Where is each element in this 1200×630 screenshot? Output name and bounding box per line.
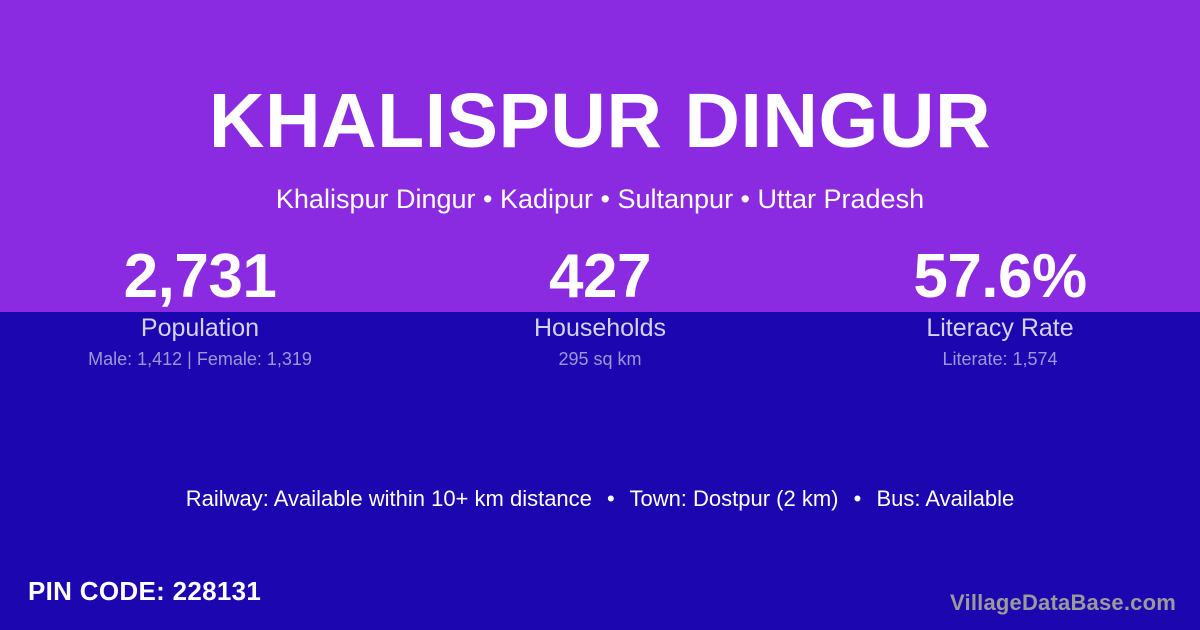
amenity-railway: Railway: Available within 10+ km distanc… bbox=[186, 486, 592, 511]
amenities-line: Railway: Available within 10+ km distanc… bbox=[0, 486, 1200, 512]
site-brand-label: VillageDataBase.com bbox=[950, 590, 1176, 616]
card-header: KHALISPUR DINGUR Khalispur Dingur • Kadi… bbox=[0, 0, 1200, 240]
stat-households-label: Households bbox=[400, 314, 800, 342]
stat-population-value: 2,731 bbox=[0, 246, 400, 308]
stats-row: 2,731 Population Male: 1,412 | Female: 1… bbox=[0, 246, 1200, 369]
village-info-card: KHALISPUR DINGUR Khalispur Dingur • Kadi… bbox=[0, 0, 1200, 630]
stat-households-detail: 295 sq km bbox=[400, 349, 800, 369]
pin-code-label: PIN CODE: 228131 bbox=[28, 576, 261, 606]
breadcrumb: Khalispur Dingur • Kadipur • Sultanpur •… bbox=[0, 183, 1200, 215]
amenity-bus: Bus: Available bbox=[876, 486, 1014, 511]
amenity-town: Town: Dostpur (2 km) bbox=[629, 486, 838, 511]
stat-literacy-rate-label: Literacy Rate bbox=[800, 314, 1200, 342]
stat-population-label: Population bbox=[0, 314, 400, 342]
stat-households-value: 427 bbox=[400, 246, 800, 308]
page-title: KHALISPUR DINGUR bbox=[0, 82, 1200, 160]
stat-households: 427 Households 295 sq km bbox=[400, 246, 800, 369]
stat-population-detail: Male: 1,412 | Female: 1,319 bbox=[0, 349, 400, 369]
stat-population: 2,731 Population Male: 1,412 | Female: 1… bbox=[0, 246, 400, 369]
stat-literacy-rate-value: 57.6% bbox=[800, 246, 1200, 308]
amenity-separator-2: • bbox=[845, 486, 871, 512]
stat-literacy-rate-detail: Literate: 1,574 bbox=[800, 349, 1200, 369]
stat-literacy-rate: 57.6% Literacy Rate Literate: 1,574 bbox=[800, 246, 1200, 369]
amenity-separator-1: • bbox=[598, 486, 624, 512]
